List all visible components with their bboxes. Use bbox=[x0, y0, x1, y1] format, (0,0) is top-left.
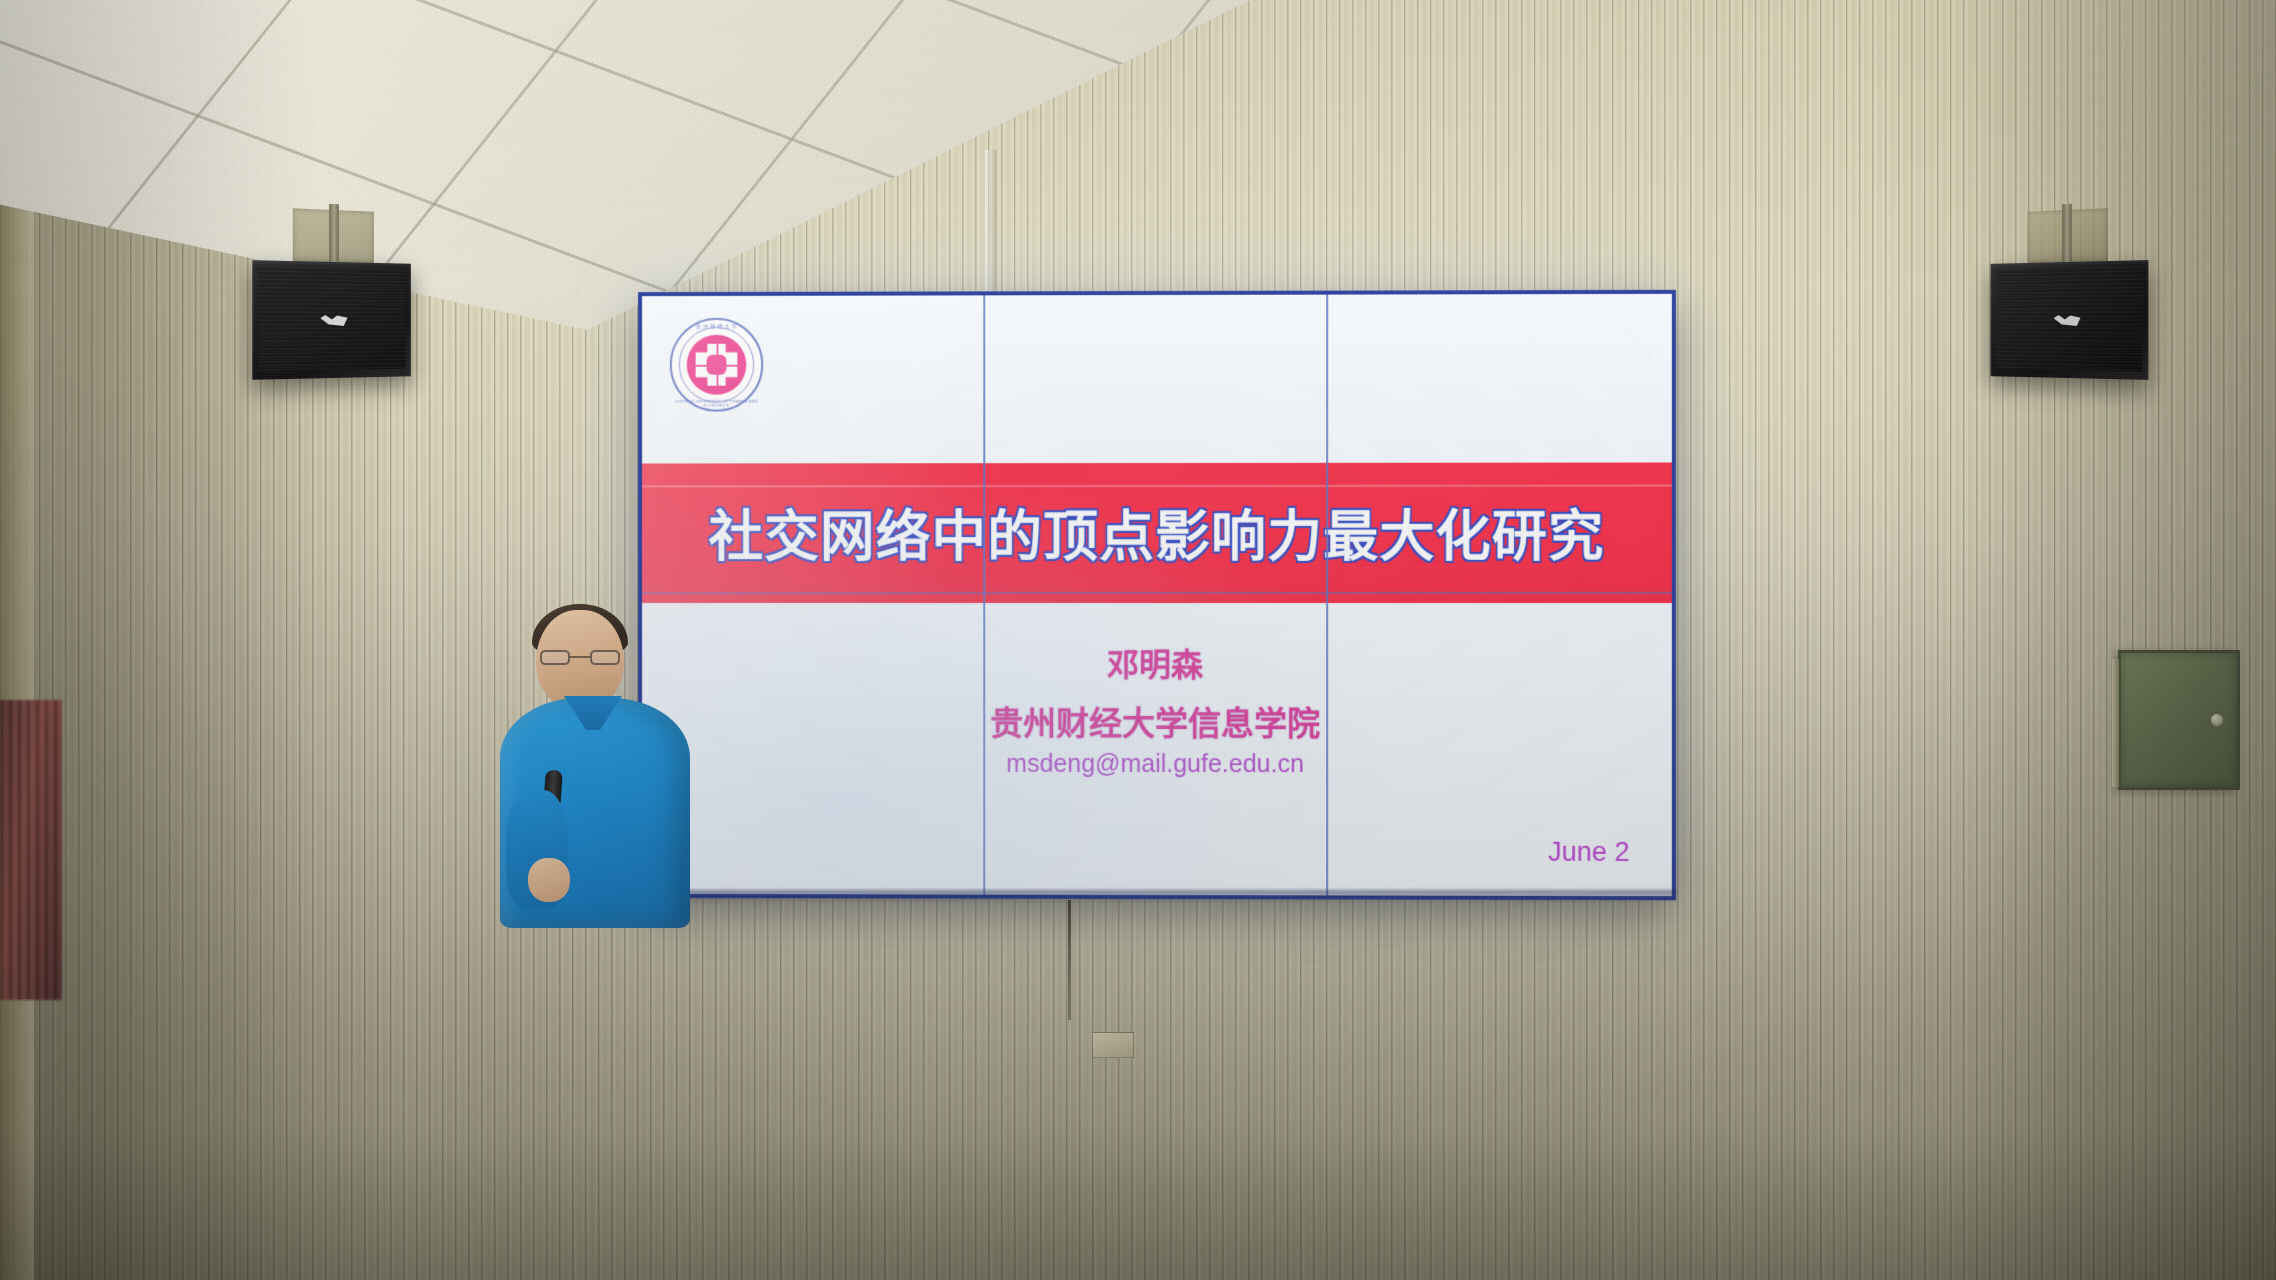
band-hairline bbox=[642, 485, 1672, 487]
seal-top-text: 贵 州 财 经 大 学 bbox=[670, 323, 763, 330]
right-wall-speaker bbox=[1991, 260, 2149, 380]
speaker-body bbox=[1991, 260, 2149, 380]
left-wall-speaker bbox=[252, 260, 411, 380]
speaker-bracket bbox=[2062, 204, 2072, 268]
speaker-bracket bbox=[329, 204, 339, 268]
seal-bottom-text: GUIZHOU UNIVERSITY OF FINANCE AND ECONOM… bbox=[670, 400, 763, 408]
speaker-body bbox=[252, 260, 411, 380]
panel-seam-horizontal bbox=[642, 592, 1672, 594]
gufe-seal-icon: 贵 州 财 经 大 学 GUIZHOU UNIVERSITY OF FINANC… bbox=[670, 318, 763, 412]
slide-title: 社交网络中的顶点影响力最大化研究 bbox=[709, 491, 1605, 571]
audience-area bbox=[0, 720, 2276, 1280]
slide-author: 邓明森 bbox=[642, 640, 1672, 687]
glasses-icon bbox=[540, 650, 620, 665]
lecture-hall-photo: 贵 州 财 经 大 学 GUIZHOU UNIVERSITY OF FINANC… bbox=[0, 0, 2276, 1280]
speaker-grille-icon bbox=[258, 266, 405, 371]
title-band: 社交网络中的顶点影响力最大化研究 bbox=[642, 462, 1672, 603]
